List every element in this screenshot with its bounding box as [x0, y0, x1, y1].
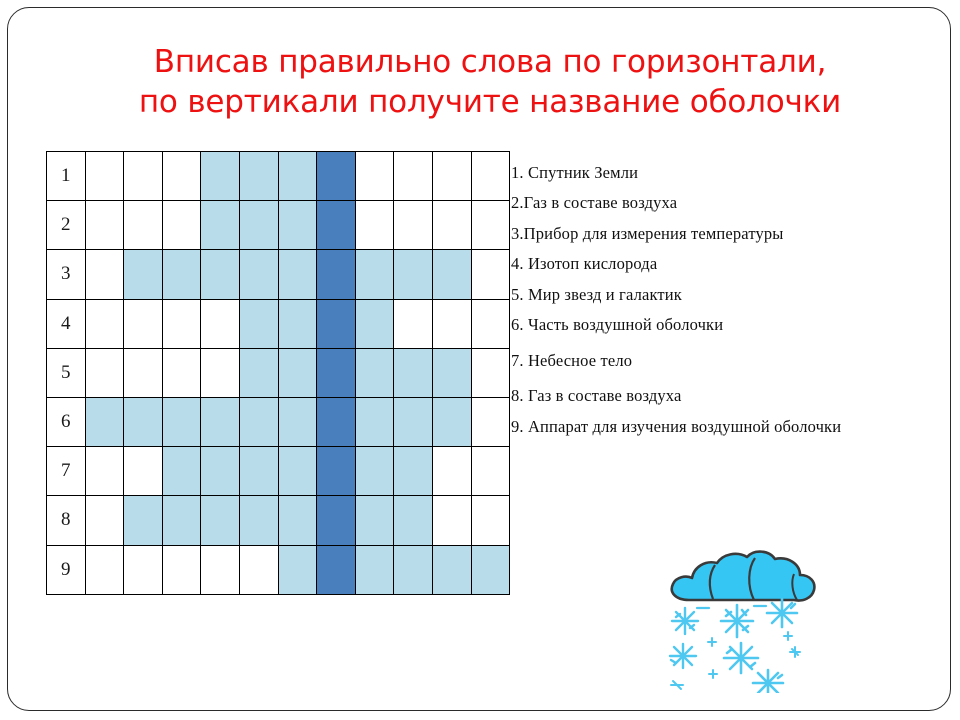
- crossword-cell-empty[interactable]: [85, 496, 124, 545]
- crossword-cell-keyword[interactable]: [317, 250, 356, 299]
- crossword-cell-empty[interactable]: [471, 250, 510, 299]
- crossword-cell-shaded[interactable]: [355, 299, 394, 348]
- crossword-cell-shaded[interactable]: [432, 348, 471, 397]
- crossword-row-number: 8: [47, 496, 86, 545]
- crossword-row: 1: [47, 152, 510, 201]
- crossword-cell-empty[interactable]: [394, 299, 433, 348]
- crossword-cell-shaded[interactable]: [355, 250, 394, 299]
- crossword-cell-empty[interactable]: [162, 299, 201, 348]
- crossword-cell-empty[interactable]: [471, 201, 510, 250]
- crossword-cell-empty[interactable]: [124, 299, 163, 348]
- crossword-cell-shaded[interactable]: [278, 250, 317, 299]
- crossword-cell-shaded[interactable]: [278, 397, 317, 446]
- crossword-cell-empty[interactable]: [85, 152, 124, 201]
- snowflake-icon: [670, 644, 696, 668]
- crossword-cell-empty[interactable]: [124, 545, 163, 594]
- crossword-cell-keyword[interactable]: [317, 348, 356, 397]
- crossword-cell-empty[interactable]: [471, 299, 510, 348]
- snowflake-icon: [721, 605, 753, 637]
- crossword-cell-shaded[interactable]: [201, 496, 240, 545]
- crossword-cell-shaded[interactable]: [239, 299, 278, 348]
- crossword-cell-shaded[interactable]: [432, 545, 471, 594]
- crossword-cell-shaded[interactable]: [278, 152, 317, 201]
- snowflake-icon: [767, 599, 797, 627]
- crossword-cell-shaded[interactable]: [394, 447, 433, 496]
- snowflake-icon: [671, 681, 683, 689]
- crossword-cell-shaded[interactable]: [432, 397, 471, 446]
- snowflake-icon: [753, 670, 783, 693]
- crossword-cell-empty[interactable]: [432, 447, 471, 496]
- crossword-cell-shaded[interactable]: [162, 397, 201, 446]
- snowflake-icon: [790, 647, 800, 657]
- clue-item: 2.Газ в составе воздуха: [511, 193, 935, 212]
- crossword-cell-empty[interactable]: [85, 545, 124, 594]
- crossword-cell-shaded[interactable]: [278, 299, 317, 348]
- crossword-cell-empty[interactable]: [124, 201, 163, 250]
- slide-canvas: Вписав правильно слова по горизонтали, п…: [0, 0, 960, 720]
- crossword-cell-shaded[interactable]: [124, 397, 163, 446]
- crossword-row-number: 3: [47, 250, 86, 299]
- crossword-cell-empty[interactable]: [85, 447, 124, 496]
- crossword-row-number: 5: [47, 348, 86, 397]
- crossword-cell-empty[interactable]: [394, 201, 433, 250]
- crossword-cell-shaded[interactable]: [239, 447, 278, 496]
- crossword-cell-empty[interactable]: [355, 201, 394, 250]
- crossword-cell-empty[interactable]: [394, 152, 433, 201]
- crossword-cell-keyword[interactable]: [317, 299, 356, 348]
- crossword-cell-keyword[interactable]: [317, 397, 356, 446]
- page-title-line-2: по вертикали получите название оболочки: [60, 82, 920, 122]
- crossword-cell-keyword[interactable]: [317, 496, 356, 545]
- crossword-cell-shaded[interactable]: [355, 545, 394, 594]
- crossword-cell-shaded[interactable]: [239, 496, 278, 545]
- crossword-row: 7: [47, 447, 510, 496]
- crossword-cell-empty[interactable]: [201, 299, 240, 348]
- crossword-cell-shaded[interactable]: [239, 201, 278, 250]
- crossword-grid-body: 123456789: [47, 152, 510, 595]
- crossword-cell-empty[interactable]: [471, 348, 510, 397]
- crossword-cell-empty[interactable]: [124, 447, 163, 496]
- clue-item: 5. Мир звезд и галактик: [511, 285, 935, 304]
- crossword-cell-empty[interactable]: [124, 348, 163, 397]
- clue-item: 3.Прибор для измерения температуры: [511, 224, 935, 243]
- crossword-row: 4: [47, 299, 510, 348]
- crossword-cell-shaded[interactable]: [239, 397, 278, 446]
- crossword-cell-keyword[interactable]: [317, 545, 356, 594]
- crossword-cell-empty[interactable]: [471, 496, 510, 545]
- crossword-grid-container: 123456789: [46, 151, 510, 595]
- page-title-line-1: Вписав правильно слова по горизонтали,: [60, 42, 920, 82]
- clue-item: 1. Спутник Земли: [511, 163, 935, 182]
- snowflake-group: [670, 599, 800, 693]
- crossword-cell-shaded[interactable]: [355, 496, 394, 545]
- crossword-cell-shaded[interactable]: [278, 201, 317, 250]
- crossword-cell-shaded[interactable]: [394, 545, 433, 594]
- crossword-cell-shaded[interactable]: [201, 250, 240, 299]
- crossword-cell-empty[interactable]: [85, 299, 124, 348]
- crossword-cell-shaded[interactable]: [394, 250, 433, 299]
- crossword-cell-shaded[interactable]: [162, 496, 201, 545]
- crossword-cell-keyword[interactable]: [317, 201, 356, 250]
- crossword-cell-shaded[interactable]: [239, 152, 278, 201]
- snow-cloud-illustration: [655, 548, 845, 693]
- crossword-cell-shaded[interactable]: [201, 201, 240, 250]
- crossword-cell-empty[interactable]: [85, 348, 124, 397]
- page-title: Вписав правильно слова по горизонтали, п…: [60, 42, 920, 122]
- crossword-cell-shaded[interactable]: [201, 447, 240, 496]
- crossword-cell-empty[interactable]: [162, 201, 201, 250]
- crossword-cell-shaded[interactable]: [355, 348, 394, 397]
- crossword-cell-empty[interactable]: [239, 545, 278, 594]
- crossword-row-number: 6: [47, 397, 86, 446]
- crossword-cell-empty[interactable]: [201, 348, 240, 397]
- crossword-cell-empty[interactable]: [162, 545, 201, 594]
- crossword-cell-keyword[interactable]: [317, 152, 356, 201]
- crossword-row-number: 4: [47, 299, 86, 348]
- crossword-cell-shaded[interactable]: [124, 250, 163, 299]
- crossword-cell-shaded[interactable]: [85, 397, 124, 446]
- crossword-cell-shaded[interactable]: [355, 397, 394, 446]
- crossword-cell-shaded[interactable]: [239, 348, 278, 397]
- crossword-cell-keyword[interactable]: [317, 447, 356, 496]
- crossword-cell-shaded[interactable]: [201, 397, 240, 446]
- crossword-cell-empty[interactable]: [471, 152, 510, 201]
- crossword-cell-shaded[interactable]: [355, 447, 394, 496]
- crossword-grid[interactable]: 123456789: [46, 151, 510, 595]
- crossword-cell-empty[interactable]: [201, 545, 240, 594]
- snowflake-icon: [709, 670, 717, 678]
- crossword-cell-shaded[interactable]: [124, 496, 163, 545]
- crossword-cell-empty[interactable]: [432, 496, 471, 545]
- crossword-row: 9: [47, 545, 510, 594]
- snowflake-icon: [724, 643, 758, 673]
- clue-item: 7. Небесное тело: [511, 351, 935, 370]
- clue-item: 4. Изотоп кислорода: [511, 254, 935, 273]
- crossword-row: 8: [47, 496, 510, 545]
- crossword-cell-empty[interactable]: [432, 201, 471, 250]
- crossword-cell-shaded[interactable]: [471, 545, 510, 594]
- crossword-cell-shaded[interactable]: [162, 447, 201, 496]
- crossword-cell-shaded[interactable]: [394, 348, 433, 397]
- crossword-cell-shaded[interactable]: [432, 250, 471, 299]
- crossword-cell-empty[interactable]: [85, 250, 124, 299]
- crossword-cell-shaded[interactable]: [162, 250, 201, 299]
- snowflake-icon: [784, 632, 792, 640]
- crossword-row-number: 1: [47, 152, 86, 201]
- clue-item: 6. Часть воздушной оболочки: [511, 315, 935, 334]
- crossword-cell-empty[interactable]: [355, 152, 394, 201]
- crossword-cell-shaded[interactable]: [278, 545, 317, 594]
- crossword-cell-shaded[interactable]: [278, 496, 317, 545]
- clue-item: 8. Газ в составе воздуха: [511, 386, 935, 405]
- crossword-cell-shaded[interactable]: [394, 496, 433, 545]
- crossword-cell-empty[interactable]: [124, 152, 163, 201]
- crossword-cell-empty[interactable]: [162, 152, 201, 201]
- snowflake-icon: [672, 608, 698, 634]
- crossword-cell-empty[interactable]: [471, 447, 510, 496]
- crossword-row-number: 7: [47, 447, 86, 496]
- crossword-cell-empty[interactable]: [162, 348, 201, 397]
- crossword-row: 3: [47, 250, 510, 299]
- crossword-cell-empty[interactable]: [471, 397, 510, 446]
- crossword-cell-shaded[interactable]: [394, 397, 433, 446]
- clue-item: 9. Аппарат для изучения воздушной оболоч…: [511, 417, 935, 436]
- crossword-row-number: 9: [47, 545, 86, 594]
- crossword-row: 6: [47, 397, 510, 446]
- clue-list: 1. Спутник Земли 2.Газ в составе воздуха…: [511, 163, 935, 449]
- crossword-row-number: 2: [47, 201, 86, 250]
- crossword-cell-empty[interactable]: [85, 201, 124, 250]
- crossword-cell-shaded[interactable]: [201, 152, 240, 201]
- crossword-cell-empty[interactable]: [432, 299, 471, 348]
- crossword-cell-shaded[interactable]: [278, 447, 317, 496]
- crossword-row: 2: [47, 201, 510, 250]
- crossword-row: 5: [47, 348, 510, 397]
- cloud-icon: [672, 552, 815, 601]
- crossword-cell-shaded[interactable]: [278, 348, 317, 397]
- crossword-cell-shaded[interactable]: [239, 250, 278, 299]
- crossword-cell-empty[interactable]: [432, 152, 471, 201]
- snowflake-icon: [708, 638, 716, 646]
